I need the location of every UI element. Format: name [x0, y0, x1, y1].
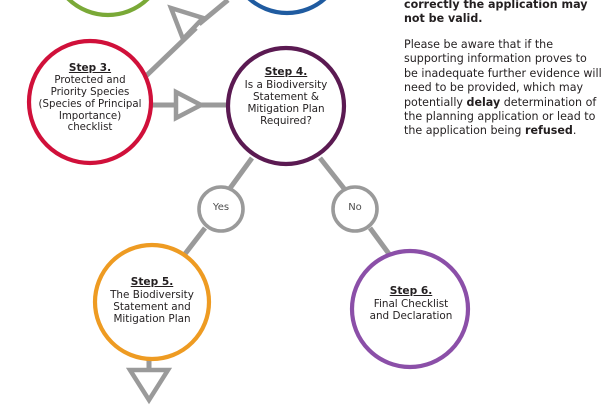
advisory-panel: correctly the application may not be val… [404, 0, 604, 139]
decision-no[interactable] [333, 187, 377, 231]
arrowhead-step3-to-step4 [176, 92, 201, 118]
arrowhead-step5-exit [130, 370, 168, 400]
node-step5[interactable] [95, 245, 209, 359]
advisory-lead: correctly the application may not be val… [404, 0, 604, 27]
flowchart-page: .conn { stroke: #9a9a9a; stroke-width: 5… [0, 0, 612, 408]
advisory-lead-line-2: not be valid. [404, 12, 483, 25]
connector-step1-tail [199, 0, 228, 24]
advisory-emphasis-delay: delay [467, 96, 501, 109]
advisory-body-part-3: . [573, 124, 577, 137]
decision-yes[interactable] [199, 187, 243, 231]
advisory-body: Please be aware that if the supporting i… [404, 38, 604, 139]
advisory-emphasis-refused: refused [525, 124, 573, 137]
node-step6[interactable] [352, 251, 468, 367]
node-step1-partial[interactable] [51, 0, 165, 15]
connector-step4-to-no [320, 158, 346, 191]
node-step4[interactable] [228, 48, 344, 164]
node-step3[interactable] [29, 41, 151, 163]
arrowhead-step3-to-step1 [171, 8, 203, 39]
advisory-lead-line-1: correctly the application may [404, 0, 588, 11]
node-step2-partial[interactable] [230, 0, 344, 13]
connector-step4-to-yes [228, 158, 252, 191]
